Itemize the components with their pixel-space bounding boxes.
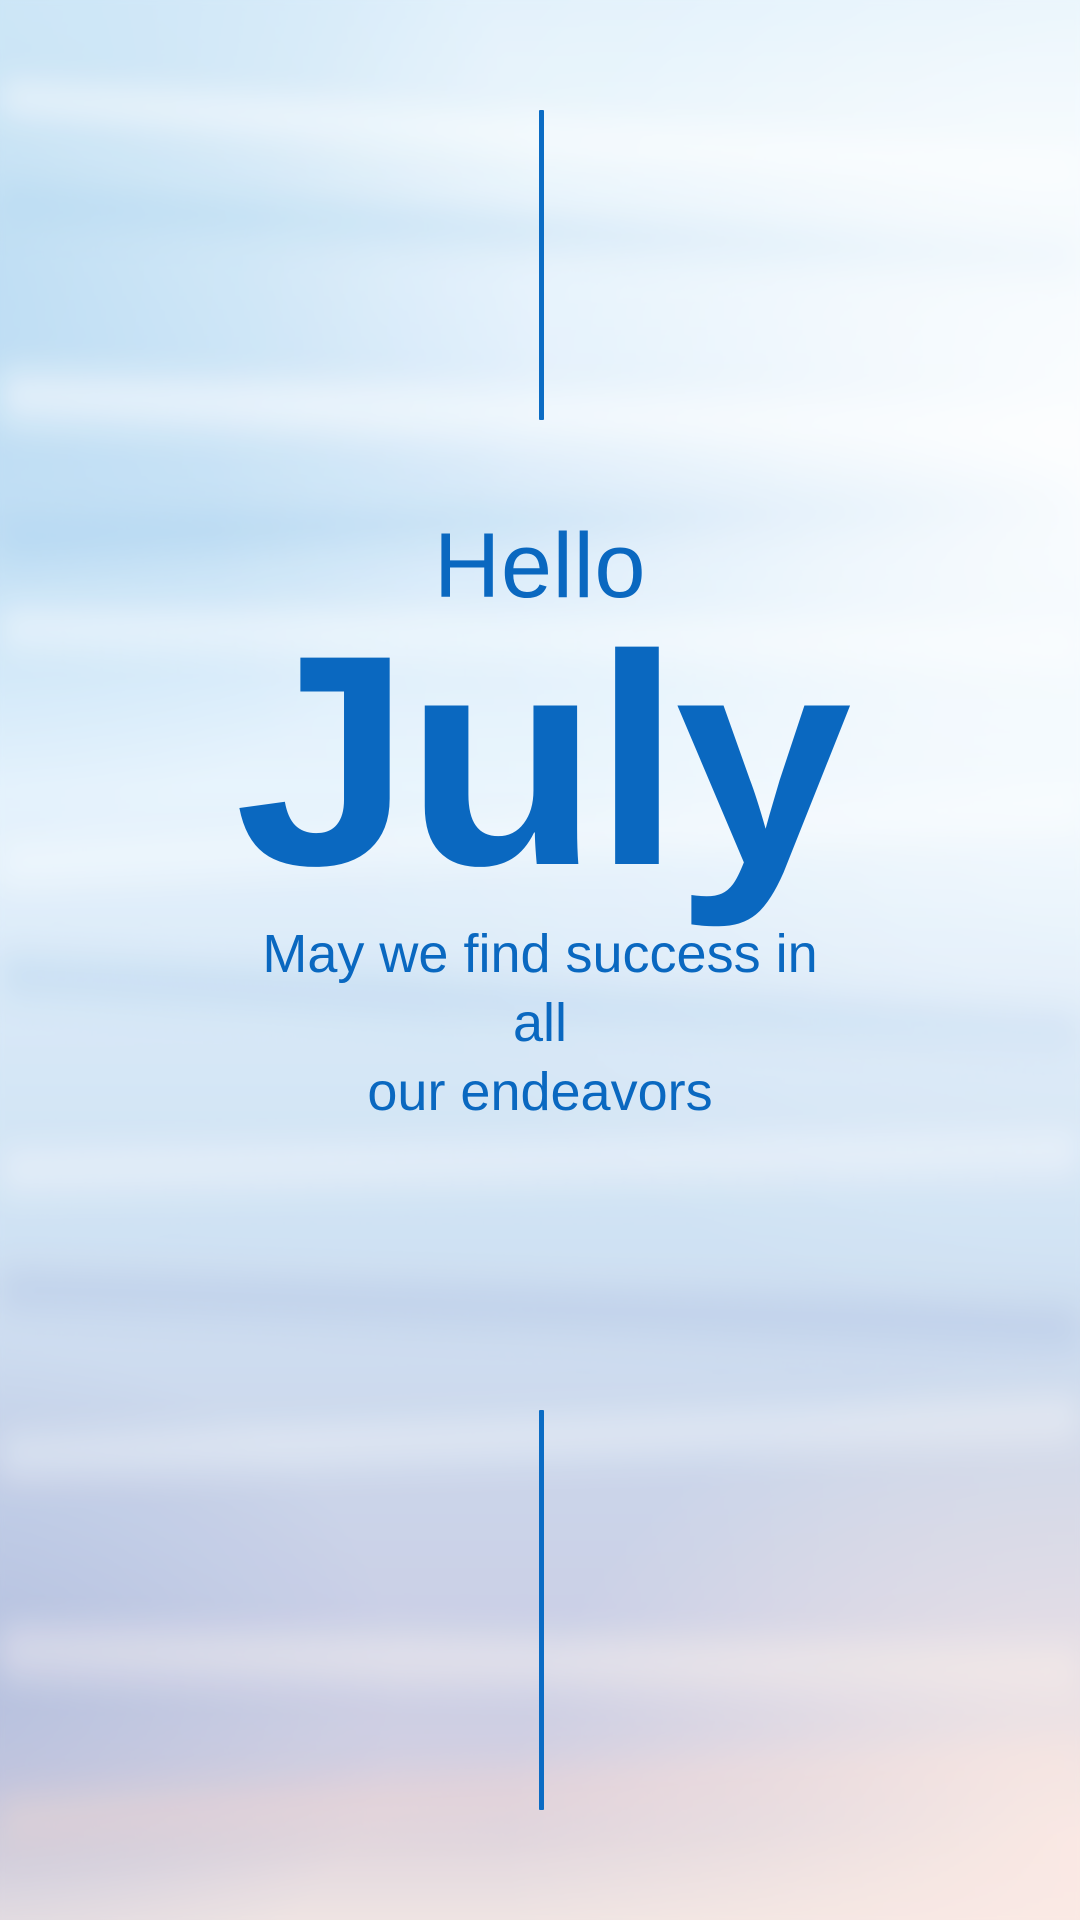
poster-canvas: Hello July May we find success in all ou… [0, 0, 1080, 1920]
vertical-divider-top [539, 110, 544, 420]
month-title: July [0, 622, 1080, 898]
vertical-divider-bottom [539, 1410, 544, 1810]
tagline-line-1: May we find success in all [230, 920, 850, 1058]
text-block: Hello July May we find success in all ou… [0, 520, 1080, 1127]
tagline-line-2: our endeavors [230, 1058, 850, 1127]
tagline: May we find success in all our endeavors [230, 920, 850, 1127]
